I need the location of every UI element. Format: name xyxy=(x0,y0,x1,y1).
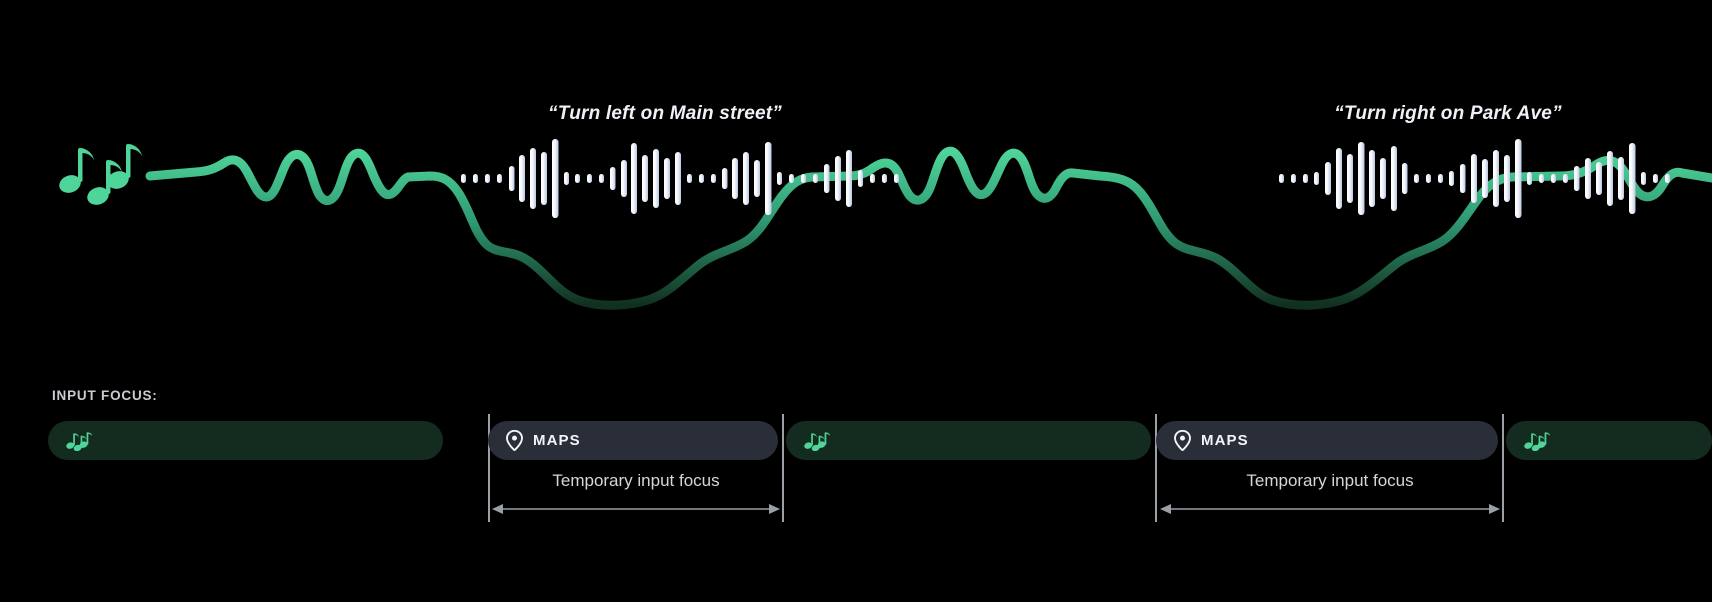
music-notes-icon xyxy=(66,431,92,451)
music-envelope-path xyxy=(150,151,1712,305)
focus-segment-music-1 xyxy=(48,414,488,554)
music-notes-icon xyxy=(57,144,142,208)
input-focus-label: INPUT FOCUS: xyxy=(52,388,158,403)
temporary-focus-arrow-1 xyxy=(492,502,780,516)
audio-timeline: “Turn left on Main street” “Turn right o… xyxy=(0,0,1712,360)
chip-music-2[interactable] xyxy=(786,421,1151,460)
chip-label: MAPS xyxy=(533,432,581,449)
segment-divider xyxy=(1502,414,1504,522)
map-pin-icon xyxy=(1174,430,1191,451)
music-notes-icon xyxy=(1524,431,1550,451)
input-focus-track: MAPS Temporary input focus xyxy=(0,414,1712,554)
chip-music-3[interactable] xyxy=(1506,421,1712,460)
focus-segment-music-2 xyxy=(786,414,1196,554)
focus-segment-music-3 xyxy=(1506,414,1712,554)
chip-maps-1[interactable]: MAPS xyxy=(488,421,778,460)
screen-root: “Turn left on Main street” “Turn right o… xyxy=(0,0,1712,602)
chip-maps-2[interactable]: MAPS xyxy=(1156,421,1498,460)
utterance-caption-1: “Turn left on Main street” xyxy=(548,103,782,125)
temporary-focus-note-2: Temporary input focus xyxy=(1156,471,1504,491)
chip-music-1[interactable] xyxy=(48,421,443,460)
waveform-canvas xyxy=(0,0,1712,360)
temporary-focus-arrow-2 xyxy=(1160,502,1500,516)
utterance-caption-2: “Turn right on Park Ave” xyxy=(1334,103,1562,125)
music-notes-icon xyxy=(804,431,830,451)
map-pin-icon xyxy=(506,430,523,451)
focus-segment-maps-1: MAPS Temporary input focus xyxy=(488,414,784,554)
focus-segment-maps-2: MAPS Temporary input focus xyxy=(1156,414,1504,554)
segment-divider xyxy=(782,414,784,522)
temporary-focus-note-1: Temporary input focus xyxy=(488,471,784,491)
chip-label: MAPS xyxy=(1201,432,1249,449)
